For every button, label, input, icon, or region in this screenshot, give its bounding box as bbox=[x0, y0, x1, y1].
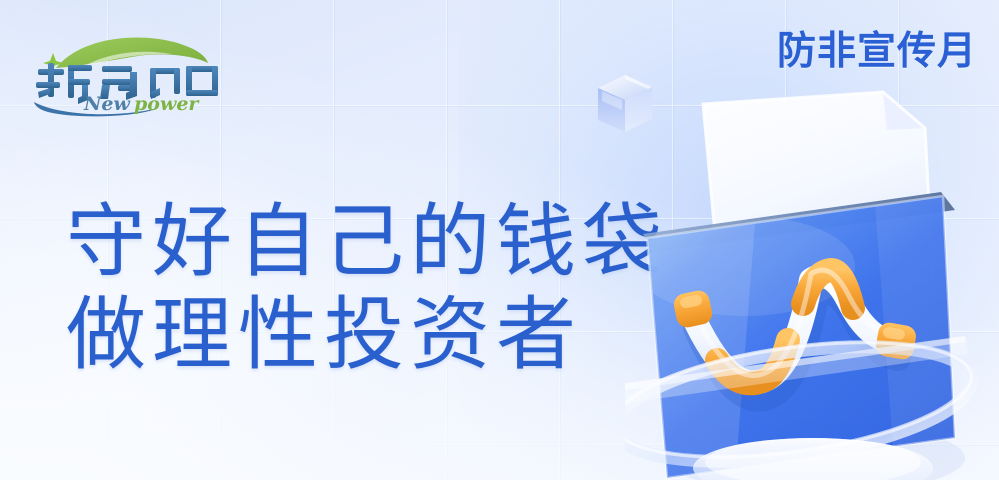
glass-folder-chart-illustration bbox=[625, 86, 999, 480]
logo-text-power: power bbox=[134, 93, 200, 115]
logo-text-new: New bbox=[83, 93, 130, 115]
promo-banner: New power 防非宣传月 守好自己的钱袋 做理性投资者 bbox=[0, 0, 999, 480]
campaign-tag: 防非宣传月 bbox=[777, 32, 977, 71]
headline: 守好自己的钱袋 做理性投资者 bbox=[66, 196, 668, 382]
new-power-logo[interactable]: New power bbox=[26, 32, 231, 118]
leaf-swoosh-icon bbox=[56, 38, 208, 68]
headline-line-1: 守好自己的钱袋 bbox=[66, 196, 668, 289]
headline-line-2: 做理性投资者 bbox=[66, 289, 668, 382]
